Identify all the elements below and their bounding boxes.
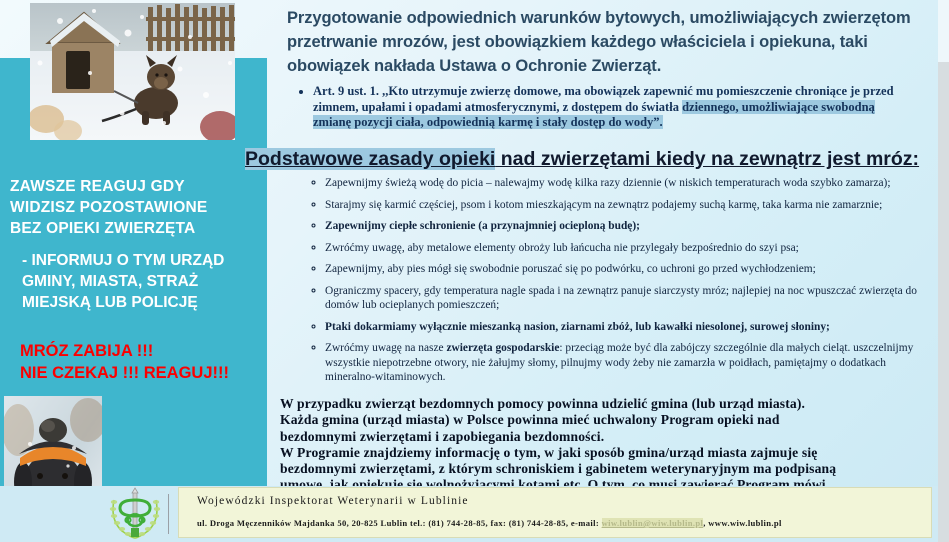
section-heading: Podstawowe zasady opieki nad zwierzętami… bbox=[245, 146, 945, 172]
closing-line: W Programie znajdziemy informację o tym,… bbox=[280, 445, 940, 461]
sidebar-line-1: ZAWSZE REAGUJ GDY bbox=[10, 176, 260, 197]
heading-rest: nad zwierzętami kiedy na zewnątrz jest m… bbox=[495, 148, 919, 170]
sidebar-line-2: WIDZISZ POZOSTAWIONE bbox=[10, 197, 260, 218]
care-rules-list: Zapewnijmy świeżą wodę do picia – nalewa… bbox=[299, 176, 929, 392]
footer-info-box: Wojewódzki Inspektorat Weterynarii w Lub… bbox=[178, 487, 932, 538]
closing-line: bezdomnymi zwierzętami i zapobiegania be… bbox=[280, 429, 940, 445]
footer: Wojewódzki Inspektorat Weterynarii w Lub… bbox=[0, 486, 949, 542]
sidebar-alert: MRÓZ ZABIJA !!! NIE CZEKAJ !!! REAGUJ!!! bbox=[20, 340, 270, 384]
main-content: Przygotowanie odpowiednich warunków byto… bbox=[281, 0, 938, 487]
care-rule-item: Zapewnijmy, aby pies mógł się swobodnie … bbox=[325, 262, 929, 277]
sidebar-line-6: MIEJSKĄ LUB POLICJĘ bbox=[22, 292, 267, 313]
care-rule-item: Zwróćmy uwagę, aby metalowe elementy obr… bbox=[325, 241, 929, 256]
footer-divider bbox=[168, 494, 169, 534]
care-rule-item: Ograniczmy spacery, gdy temperatura nagl… bbox=[325, 284, 929, 313]
heading-highlight: Podstawowe zasady opieki bbox=[245, 148, 495, 170]
alert-line-1: MRÓZ ZABIJA !!! bbox=[20, 340, 270, 362]
footer-organization-name: Wojewódzki Inspektorat Weterynarii w Lub… bbox=[197, 495, 469, 507]
care-rule-item: Ptaki dokarmiamy wyłącznie mieszanką nas… bbox=[325, 320, 929, 335]
closing-line: bezdomnymi zwierzętami, z którym schroni… bbox=[280, 461, 940, 477]
care-rule-item: Zwróćmy uwagę na nasze zwierzęta gospoda… bbox=[325, 341, 929, 385]
sidebar-line-5: GMINY, MIASTA, STRAŻ bbox=[22, 271, 267, 292]
right-edge-strip-top bbox=[938, 0, 949, 62]
article-quote-list: Art. 9 ust. 1. ,,Kto utrzymuje zwierzę d… bbox=[291, 84, 901, 131]
care-rule-item: Zapewnijmy świeżą wodę do picia – nalewa… bbox=[325, 176, 929, 191]
footer-address: ul. Droga Męczenników Majdanka 50, 20-82… bbox=[197, 518, 782, 528]
footer-address-suffix: , www.wiw.lublin.pl bbox=[703, 518, 782, 528]
slide-canvas: ZAWSZE REAGUJ GDY WIDZISZ POZOSTAWIONE B… bbox=[0, 0, 949, 542]
veterinary-caduceus-icon bbox=[104, 486, 166, 540]
closing-line: Każda gmina (urząd miasta) w Polsce powi… bbox=[280, 412, 940, 428]
sidebar-line-3: BEZ OPIEKI ZWIERZĘTA bbox=[10, 218, 260, 239]
sidebar-line-4: - INFORMUJ O TYM URZĄD bbox=[22, 250, 267, 271]
closing-line: W przypadku zwierząt bezdomnych pomocy p… bbox=[280, 396, 940, 412]
article-quote-item: Art. 9 ust. 1. ,,Kto utrzymuje zwierzę d… bbox=[313, 84, 901, 131]
sidebar-callout-secondary: - INFORMUJ O TYM URZĄD GMINY, MIASTA, ST… bbox=[22, 250, 267, 313]
footer-address-prefix: ul. Droga Męczenników Majdanka 50, 20-82… bbox=[197, 518, 602, 528]
intro-paragraph: Przygotowanie odpowiednich warunków byto… bbox=[287, 6, 927, 78]
sidebar-callout-primary: ZAWSZE REAGUJ GDY WIDZISZ POZOSTAWIONE B… bbox=[10, 176, 260, 239]
footer-email-link[interactable]: wiw.lublin@wiw.lublin.pl bbox=[602, 518, 704, 528]
care-rule-emphasis: zwierzęta gospodarskie bbox=[446, 342, 559, 354]
care-rule-item: Starajmy się karmić częściej, psom i kot… bbox=[325, 198, 929, 213]
care-rule-item: Zapewnijmy ciepłe schronienie (a przynaj… bbox=[325, 219, 929, 234]
photo-dog-chained-by-doghouse bbox=[30, 3, 235, 140]
alert-line-2: NIE CZEKAJ !!! REAGUJ!!! bbox=[20, 362, 270, 384]
